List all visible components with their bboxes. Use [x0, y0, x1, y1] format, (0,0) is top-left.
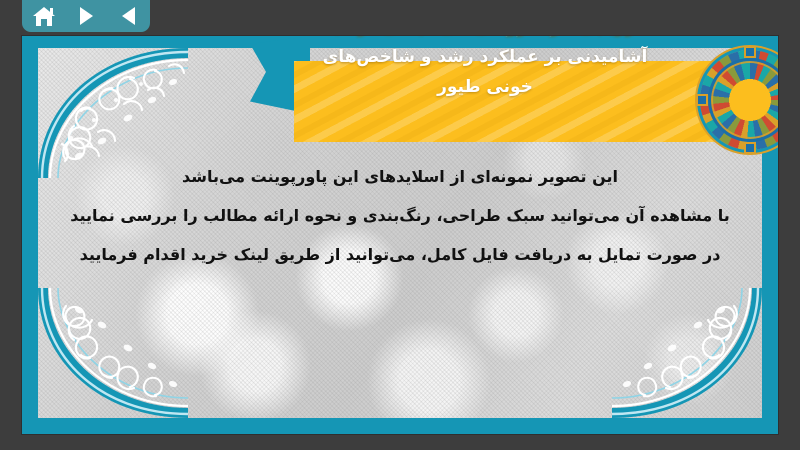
home-button[interactable] — [31, 4, 57, 28]
slide-body: این تصویر نمونه‌ای از اسلایدهای این پاور… — [62, 164, 738, 268]
body-line-1: این تصویر نمونه‌ای از اسلایدهای این پاور… — [62, 164, 738, 190]
slide-title-line-2: آشامیدنی بر عملکرد رشد و شاخص‌های — [258, 42, 712, 72]
body-line-2: با مشاهده آن می‌توانید سبک طراحی، رنگ‌بن… — [62, 203, 738, 229]
body-line-3: در صورت تمایل به دریافت فایل کامل، می‌تو… — [62, 242, 738, 268]
title-banner: ارزیابی اثر افزودنی‌های گیاهی در آب آشام… — [250, 36, 720, 142]
home-icon — [33, 7, 55, 26]
previous-slide-button[interactable] — [115, 4, 141, 28]
next-slide-button[interactable] — [73, 4, 99, 28]
slide-canvas[interactable]: ارزیابی اثر افزودنی‌های گیاهی در آب آشام… — [22, 36, 778, 434]
slide-title: ارزیابی اثر افزودنی‌های گیاهی در آب آشام… — [250, 36, 720, 102]
triangle-right-icon — [80, 7, 93, 25]
slide-viewer: ارزیابی اثر افزودنی‌های گیاهی در آب آشام… — [0, 0, 800, 450]
slide-title-line-3: خونی طیور — [258, 72, 712, 102]
slide-navigation-bar — [22, 0, 150, 32]
triangle-left-icon — [122, 7, 135, 25]
